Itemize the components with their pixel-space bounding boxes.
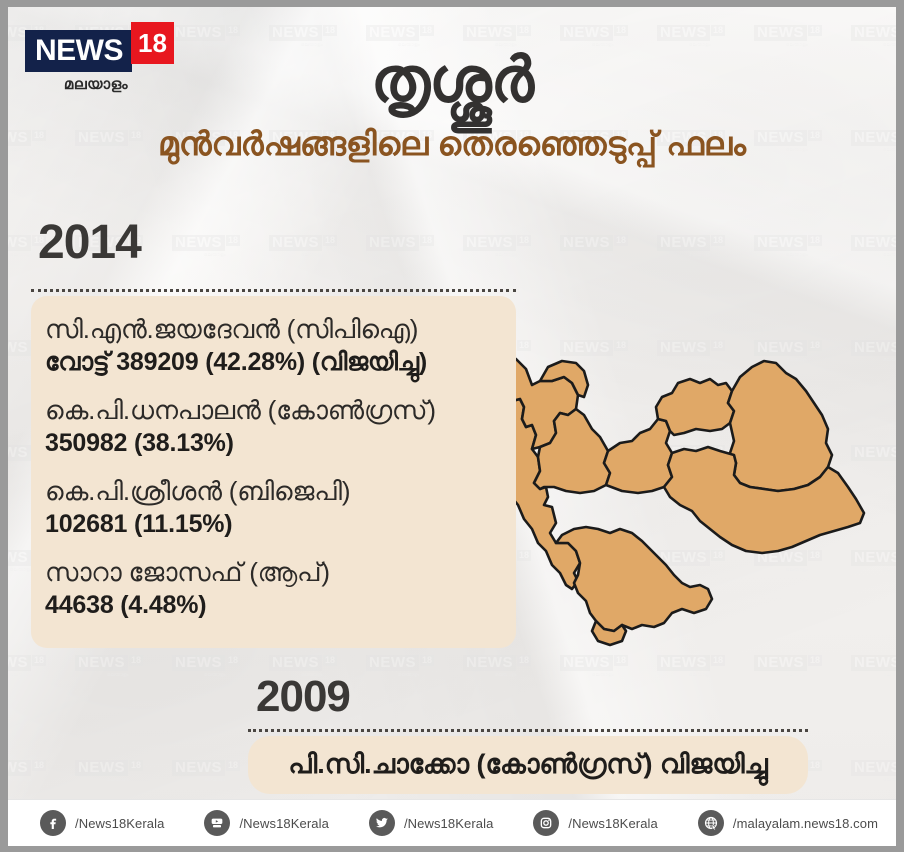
- news18-watermark: NEWS18മലയാളം: [269, 235, 355, 258]
- year-label-2009: 2009: [256, 675, 350, 719]
- social-link-facebook[interactable]: /News18Kerala: [40, 810, 164, 836]
- candidate-row: കെ.പി.ധനപാലൻ (കോൺഗ്രസ്) 350982 (38.13%): [45, 393, 516, 459]
- page-subtitle: മുൻവർഷങ്ങളിലെ തെരഞ്ഞെടുപ്പ് ഫലം: [8, 125, 896, 163]
- candidate-votes: 350982 (38.13%): [45, 427, 516, 459]
- candidate-votes: വോട്ട് 389209 (42.28%) (വിജയിച്ചു): [45, 346, 516, 378]
- results-box-2009: പി.സി.ചാക്കോ (കോൺഗ്രസ്) വിജയിച്ചു: [248, 729, 808, 794]
- candidate-name: സാറാ ജോസഫ് (ആപ്): [45, 555, 516, 589]
- winner-2009: പി.സി.ചാക്കോ (കോൺഗ്രസ്) വിജയിച്ചു: [266, 746, 790, 782]
- news18-watermark: NEWS18മലയാളം: [754, 235, 840, 258]
- social-link-instagram[interactable]: /News18Kerala: [533, 810, 657, 836]
- candidate-name: സി.എൻ.ജയദേവൻ (സിപിഐ): [45, 312, 516, 346]
- news18-watermark: NEWS18മലയാളം: [851, 760, 896, 783]
- social-label: /News18Kerala: [75, 816, 164, 831]
- social-link-youtube[interactable]: /News18Kerala: [204, 810, 328, 836]
- news18-watermark: NEWS18മലയാളം: [851, 235, 896, 258]
- globe-icon: [698, 810, 724, 836]
- instagram-icon: [533, 810, 559, 836]
- news18-watermark: NEWS18മലയാളം: [8, 655, 64, 678]
- facebook-icon: [40, 810, 66, 836]
- candidate-votes: 44638 (4.48%): [45, 589, 516, 621]
- twitter-icon: [369, 810, 395, 836]
- results-box-2014: സി.എൻ.ജയദേവൻ (സിപിഐ) വോട്ട് 389209 (42.2…: [31, 289, 516, 648]
- candidate-name: കെ.പി.ധനപാലൻ (കോൺഗ്രസ്): [45, 393, 516, 427]
- social-label: /News18Kerala: [239, 816, 328, 831]
- image-frame: NEWS18മലയാളംNEWS18മലയാളംNEWS18മലയാളംNEWS…: [0, 0, 904, 852]
- candidate-votes: 102681 (11.15%): [45, 508, 516, 540]
- news18-watermark: NEWS18മലയാളം: [172, 760, 258, 783]
- year-label-2014: 2014: [38, 219, 141, 267]
- news18-watermark: NEWS18മലയാളം: [172, 655, 258, 678]
- candidate-name: കെ.പി.ശ്രീശൻ (ബിജെപി): [45, 474, 516, 508]
- social-label: /News18Kerala: [568, 816, 657, 831]
- social-label: /News18Kerala: [404, 816, 493, 831]
- social-link-twitter[interactable]: /News18Kerala: [369, 810, 493, 836]
- candidate-row: കെ.പി.ശ്രീശൻ (ബിജെപി) 102681 (11.15%): [45, 474, 516, 540]
- news18-watermark: NEWS18മലയാളം: [463, 235, 549, 258]
- news18-watermark: NEWS18മലയാളം: [366, 235, 452, 258]
- news18-watermark: NEWS18മലയാളം: [75, 655, 161, 678]
- news18-watermark: NEWS18മലയാളം: [657, 235, 743, 258]
- social-footer: /News18Kerala /News18Kerala /News18Keral…: [8, 799, 896, 846]
- news18-watermark: NEWS18മലയാളം: [560, 235, 646, 258]
- social-link-website[interactable]: /malayalam.news18.com: [698, 810, 878, 836]
- candidate-row: സി.എൻ.ജയദേവൻ (സിപിഐ) വോട്ട് 389209 (42.2…: [45, 312, 516, 378]
- news18-watermark: NEWS18മലയാളം: [75, 760, 161, 783]
- social-label: /malayalam.news18.com: [733, 816, 878, 831]
- news18-watermark: NEWS18മലയാളം: [8, 760, 64, 783]
- news18-watermark: NEWS18മലയാളം: [172, 235, 258, 258]
- youtube-icon: [204, 810, 230, 836]
- page-title: തൃശ്ശൂർ: [8, 51, 896, 111]
- candidate-row: സാറാ ജോസഫ് (ആപ്) 44638 (4.48%): [45, 555, 516, 621]
- infographic-canvas: NEWS18മലയാളംNEWS18മലയാളംNEWS18മലയാളംNEWS…: [8, 7, 896, 846]
